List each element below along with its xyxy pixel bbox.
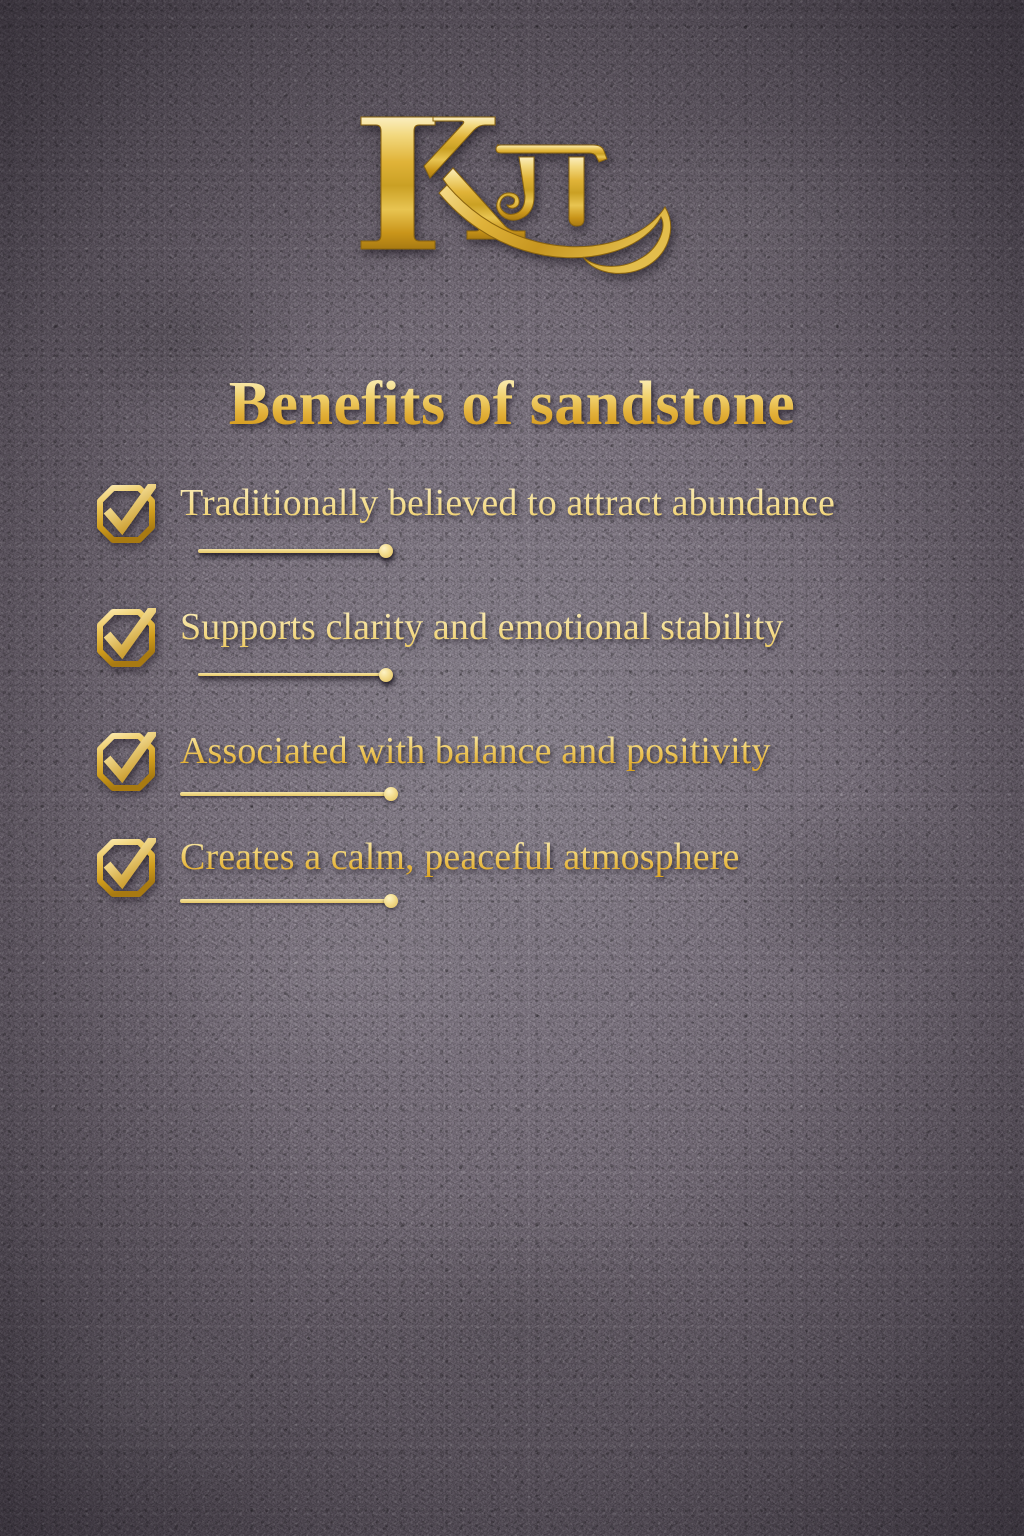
rule-bar bbox=[198, 673, 381, 677]
octagon-checkmark-icon bbox=[96, 484, 156, 544]
kp-monogram-icon bbox=[347, 101, 677, 281]
list-item-text: Supports clarity and emotional stability bbox=[180, 604, 976, 700]
trailing-rule bbox=[198, 668, 393, 682]
list-item: Traditionally believed to attract abunda… bbox=[96, 478, 976, 576]
trailing-rule bbox=[198, 544, 393, 558]
list-item-label: Supports clarity and emotional stability bbox=[180, 606, 783, 648]
octagon-checkmark-icon bbox=[96, 608, 156, 668]
rule-dot bbox=[379, 544, 393, 558]
list-item-body: Supports clarity and emotional stability bbox=[180, 602, 976, 700]
list-item-text: Associated with balance and positivity bbox=[180, 728, 976, 776]
trailing-rule bbox=[180, 787, 398, 801]
rule-dot bbox=[384, 894, 398, 908]
benefits-list: Traditionally believed to attract abunda… bbox=[96, 478, 976, 939]
list-item-body: Traditionally believed to attract abunda… bbox=[180, 478, 976, 576]
rule-bar bbox=[180, 899, 386, 903]
list-item-label: Associated with balance and positivity bbox=[180, 730, 771, 772]
rule-dot bbox=[379, 668, 393, 682]
list-item: Supports clarity and emotional stability bbox=[96, 602, 976, 700]
list-item: Associated with balance and positivity bbox=[96, 726, 976, 807]
octagon-checkmark-icon bbox=[96, 732, 156, 792]
list-item-label: Traditionally believed to attract abunda… bbox=[180, 482, 835, 524]
page-title: Benefits of sandstone bbox=[0, 372, 1024, 437]
list-item-text: Traditionally believed to attract abunda… bbox=[180, 480, 976, 576]
list-item-label: Creates a calm, peaceful atmosphere bbox=[180, 836, 740, 878]
list-item-body: Associated with balance and positivity bbox=[180, 726, 976, 807]
poster-canvas: Benefits of sandstone bbox=[0, 0, 1024, 1536]
rule-bar bbox=[198, 549, 381, 553]
list-item: Creates a calm, peaceful atmosphere bbox=[96, 832, 976, 913]
brand-logo bbox=[0, 96, 1024, 286]
list-item-body: Creates a calm, peaceful atmosphere bbox=[180, 832, 976, 913]
rule-bar bbox=[180, 792, 386, 796]
octagon-checkmark-icon bbox=[96, 838, 156, 898]
rule-dot bbox=[384, 787, 398, 801]
list-item-text: Creates a calm, peaceful atmosphere bbox=[180, 834, 976, 882]
trailing-rule bbox=[180, 894, 398, 908]
